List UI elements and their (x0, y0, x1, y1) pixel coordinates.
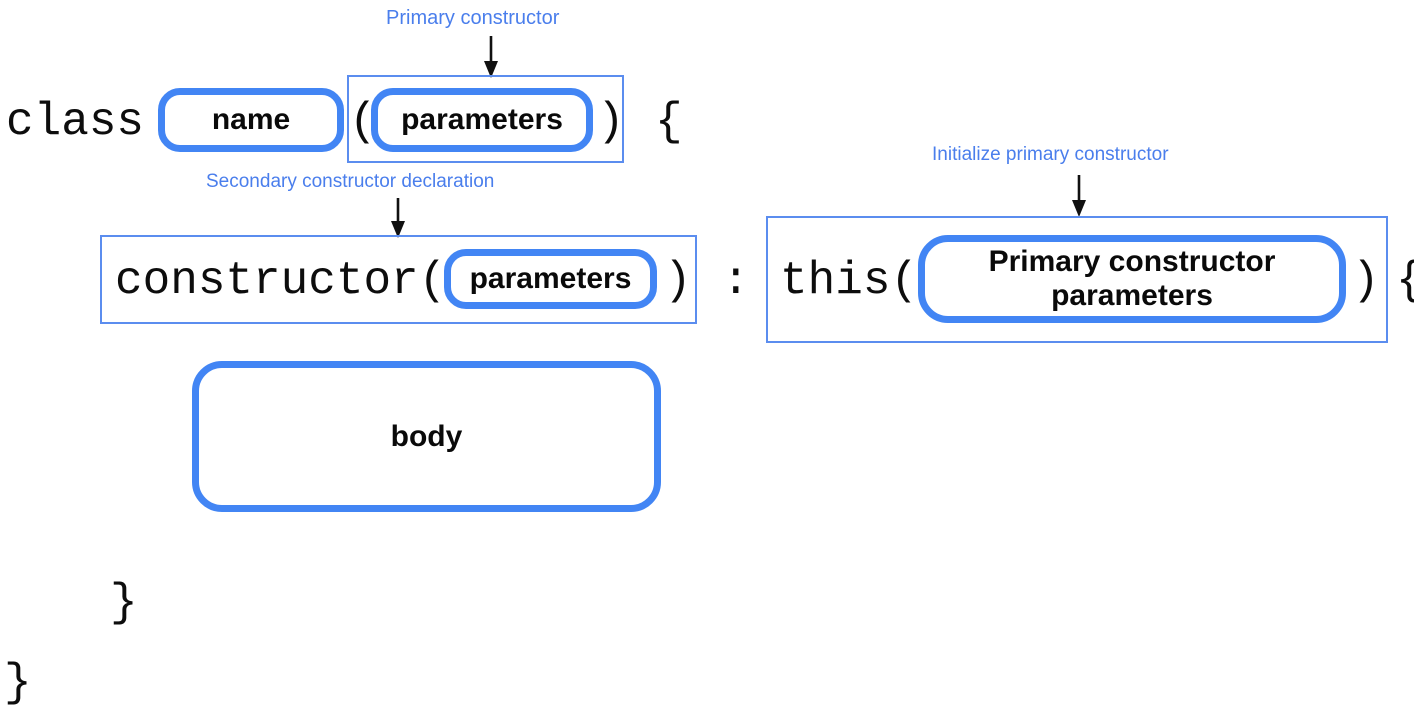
diagram-canvas: Primary constructor class name ( paramet… (0, 0, 1414, 711)
primary-parameters-box[interactable]: parameters (371, 88, 593, 152)
class-close-brace: } (4, 660, 32, 706)
constructor-keyword: constructor( (115, 258, 446, 304)
secondary-close-paren: ) (664, 258, 692, 304)
this-arguments-box[interactable]: Primary constructor parameters (918, 235, 1346, 323)
caption-initialize-primary-constructor: Initialize primary constructor (932, 145, 1169, 164)
this-arguments-line-2: parameters (1051, 279, 1213, 313)
this-arguments-line-1: Primary constructor (989, 245, 1276, 279)
class-name-box[interactable]: name (158, 88, 344, 152)
this-keyword: this( (780, 258, 918, 304)
class-open-brace: { (655, 99, 683, 145)
class-keyword: class (6, 99, 144, 145)
this-close-paren: ) (1352, 258, 1380, 304)
body-box[interactable]: body (192, 361, 661, 512)
secondary-close-brace: } (110, 580, 138, 626)
caption-primary-constructor: Primary constructor (386, 8, 559, 28)
primary-close-paren: ) (597, 99, 625, 145)
secondary-open-brace: { (1396, 258, 1414, 304)
secondary-constructor-arrow-icon (387, 198, 409, 238)
primary-constructor-arrow-icon (480, 36, 502, 78)
delegation-colon: : (722, 258, 750, 304)
initialize-primary-constructor-arrow-icon (1068, 175, 1090, 217)
caption-secondary-constructor-declaration: Secondary constructor declaration (206, 172, 494, 191)
secondary-parameters-box[interactable]: parameters (444, 249, 657, 309)
